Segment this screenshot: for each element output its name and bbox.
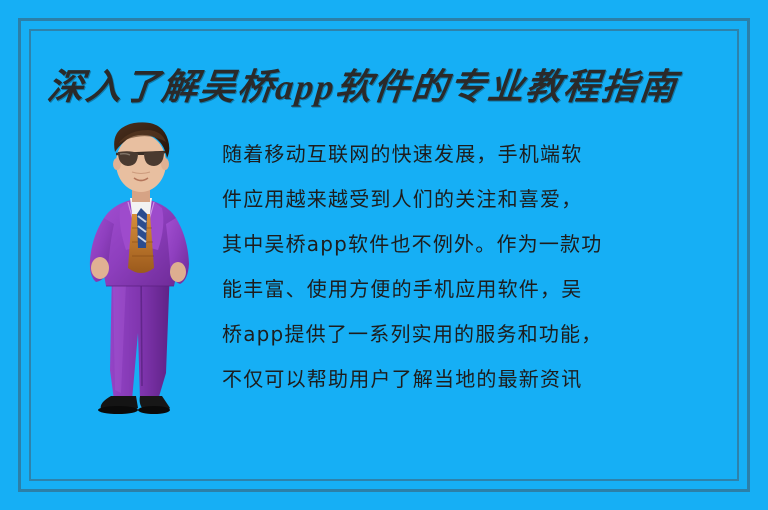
shoes: [98, 396, 170, 414]
body-line-2: 件应用越来越受到人们的关注和喜爱，: [222, 177, 738, 222]
body-line-3: 其中吴桥app软件也不例外。作为一款功: [222, 222, 738, 267]
shirt-vest-tie: [128, 198, 154, 273]
body-line-6: 不仅可以帮助用户了解当地的最新资讯: [222, 357, 738, 402]
page-title: 深入了解吴桥app软件的专业教程指南: [45, 58, 730, 110]
trousers: [110, 268, 170, 400]
body-line-5: 桥app提供了一系列实用的服务和功能，: [222, 312, 738, 357]
body-line-1: 随着移动互联网的快速发展，手机端软: [222, 132, 738, 177]
body-line-4: 能丰富、使用方便的手机应用软件，吴: [222, 267, 738, 312]
body-paragraph: 随着移动互联网的快速发展，手机端软 件应用越来越受到人们的关注和喜爱， 其中吴桥…: [222, 132, 738, 402]
poster-canvas: 深入了解吴桥app软件的专业教程指南 随着移动互联网的快速发展，手机端软 件应用…: [0, 0, 768, 510]
character-illustration: [66, 118, 216, 423]
